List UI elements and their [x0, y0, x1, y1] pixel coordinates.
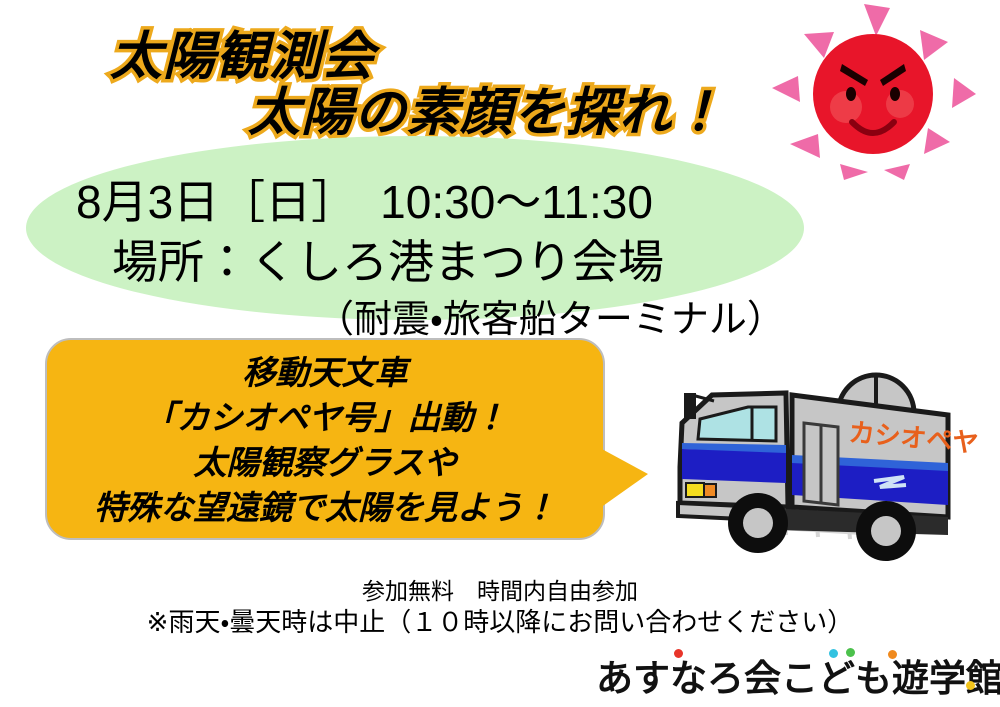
event-date-time: 8月3日［日］ 10:30〜11:30 [76, 166, 653, 232]
logo-dot-cyan-icon [829, 649, 838, 658]
bubble-line-1: 移動天文車 [45, 350, 605, 395]
bubble-line-3: 太陽観察グラスや [45, 440, 605, 485]
logo-dot-orange-icon [888, 650, 897, 659]
organization-logo: あすなろ会こども遊学館 [596, 648, 1000, 694]
organization-logo-text: あすなろ会こども遊学館 [596, 648, 1000, 702]
truck-wheel-front-hub [743, 508, 773, 538]
truck-icon: カシオペヤ [652, 357, 982, 562]
speech-bubble-tail [600, 448, 648, 508]
sun-icon [768, 2, 978, 180]
event-place-detail: （耐震・旅客船ターミナル） [316, 288, 785, 343]
footer-note-rain-cancel: ※雨天・曇天時は中止（１０時以降にお問い合わせください） [0, 602, 1000, 639]
event-place: 場所：くしろ港まつり会場 [112, 226, 664, 292]
bubble-line-2: 「カシオペヤ号」出動！ [45, 395, 605, 440]
speech-bubble-text: 移動天文車 「カシオペヤ号」出動！ 太陽観察グラスや 特殊な望遠鏡で太陽を見よう… [45, 350, 605, 530]
truck-wheel-rear-hub [871, 516, 901, 546]
footer-note-free-admission: 参加無料 時間内自由参加 [0, 572, 1000, 606]
sun-highlight-left [830, 91, 862, 123]
logo-dot-green-icon [846, 648, 855, 657]
truck-headlight-yellow [686, 483, 704, 497]
bubble-line-4: 特殊な望遠鏡で太陽を見よう！ [45, 485, 605, 530]
sun-eye-left [846, 87, 856, 101]
headline-line-2: 太陽の素顔を探れ！ [248, 70, 725, 145]
logo-dot-yellow-icon [966, 681, 975, 690]
truck-headlight-orange [704, 484, 716, 497]
logo-dot-red-icon [674, 649, 683, 658]
poster-canvas: 太陽観測会 太陽の素顔を探れ！ 8月3日［日］ 10:30〜11:30 場所：く… [0, 0, 1000, 707]
truck-cab-stripe [682, 449, 786, 483]
sun-eye-right [890, 87, 900, 101]
